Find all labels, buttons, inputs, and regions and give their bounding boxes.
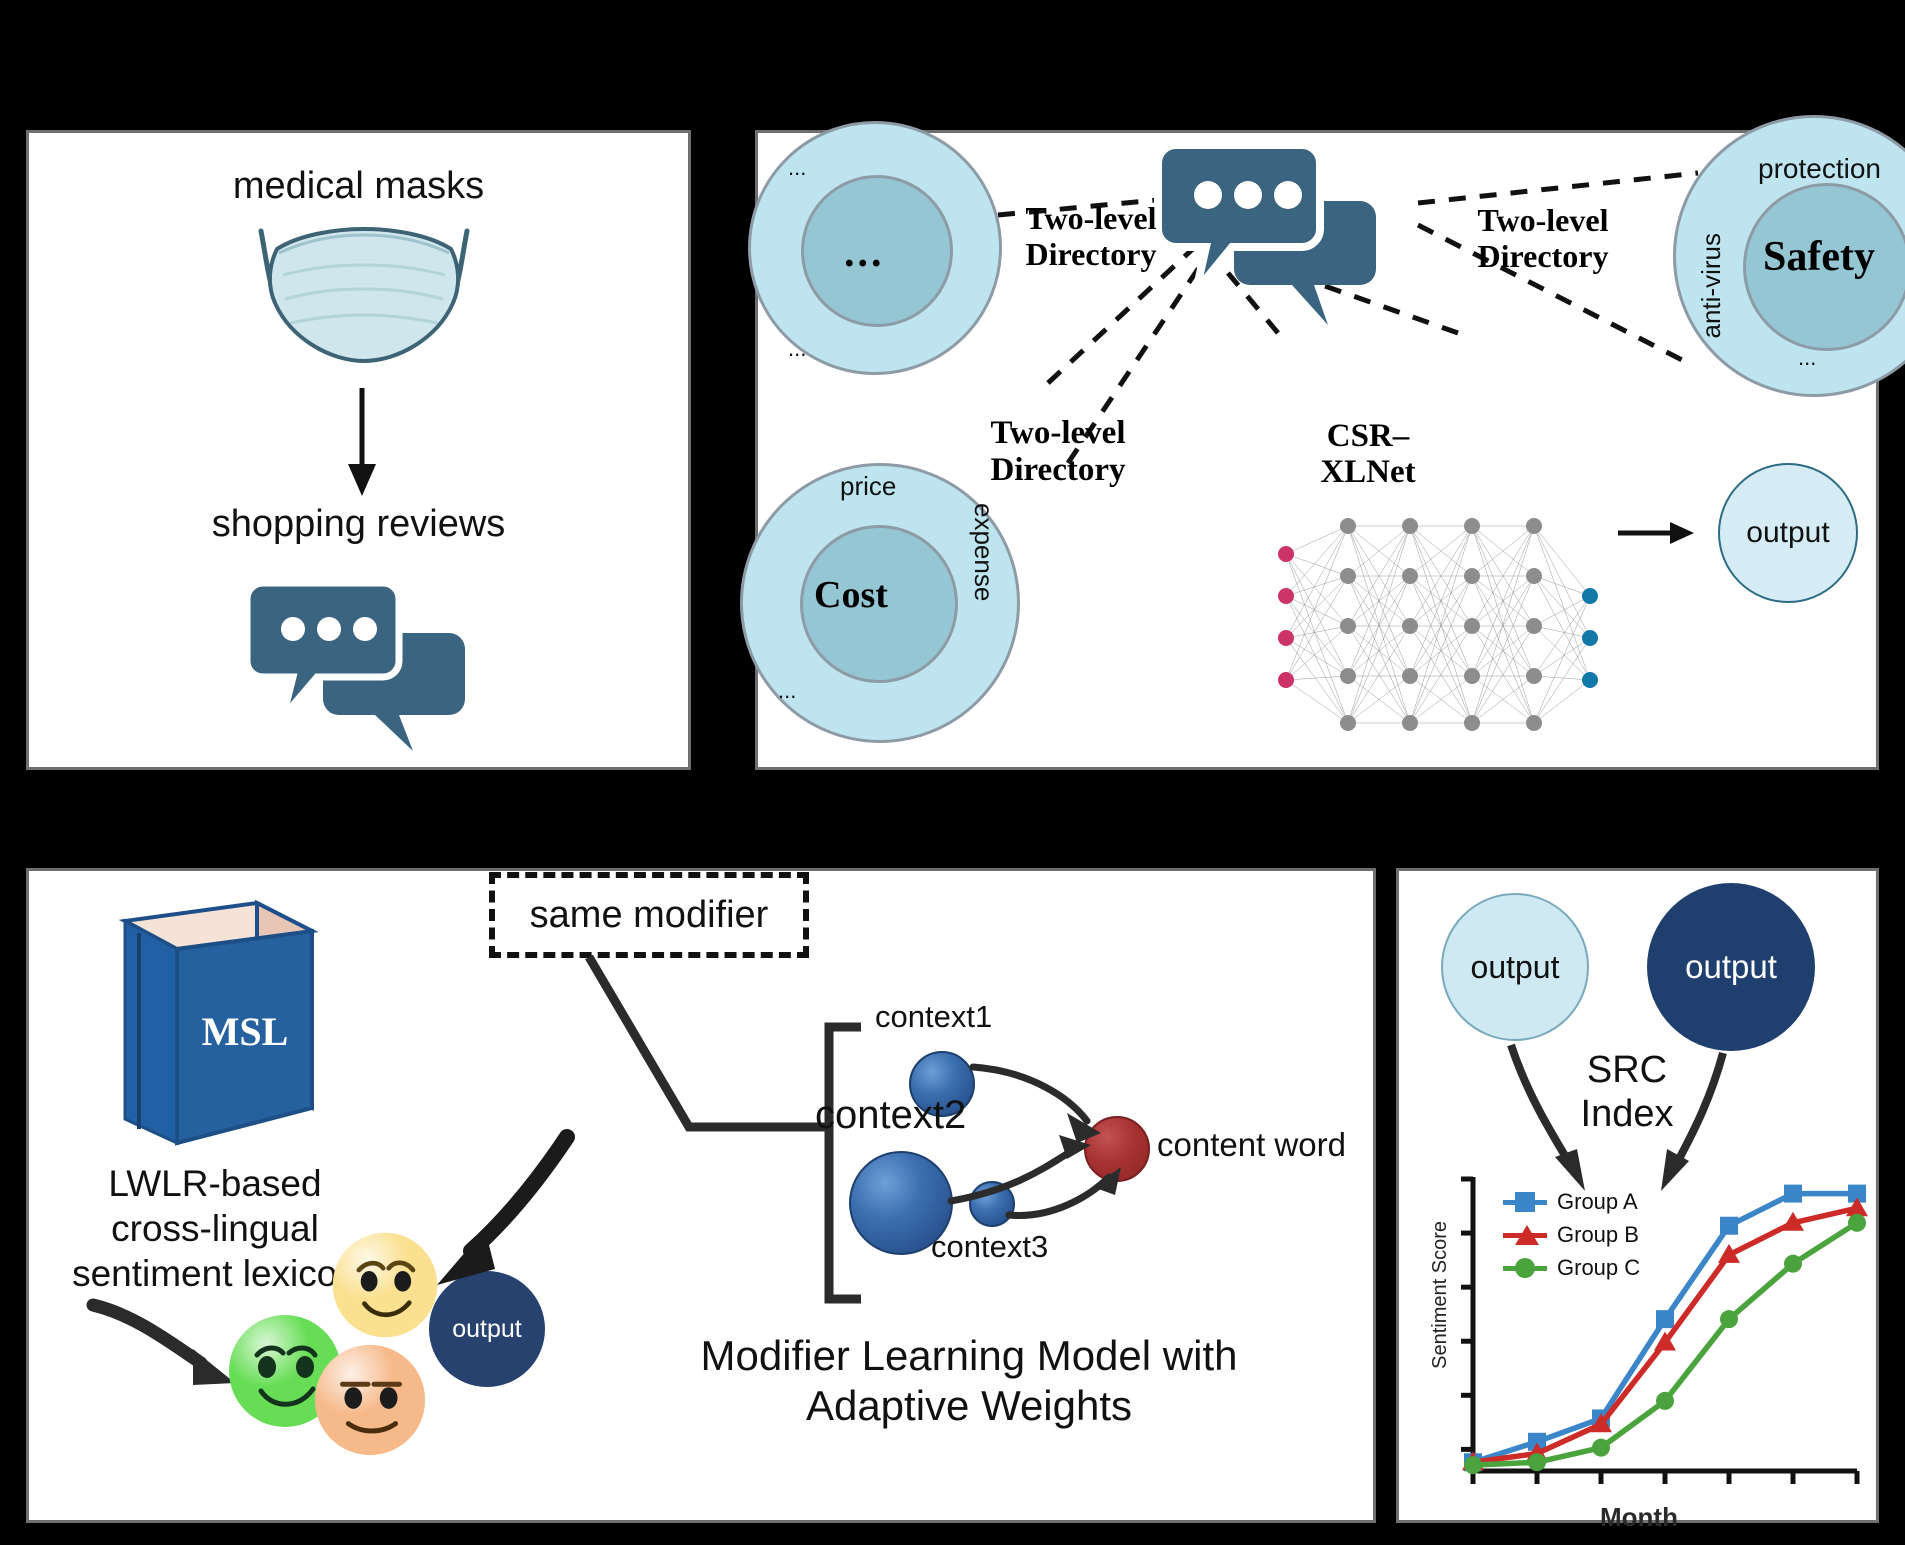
- modifier-learning-panel: MSL LWLR-based cross-lingual sentiment l…: [26, 868, 1376, 1523]
- legend-marker-square: [1515, 1192, 1535, 1212]
- legend-swatch: [1503, 1233, 1547, 1238]
- data-source-panel: medical masks shopping reviews: [26, 130, 691, 770]
- connector-label-1-line1: Two-level: [996, 201, 1186, 237]
- ellipsis-outer-bottom-label: ...: [788, 336, 806, 362]
- connector-label-3-line1: Two-level: [1448, 203, 1638, 239]
- legend-item-2: Group B: [1503, 1222, 1640, 1248]
- model-name-line2: XLNet: [1288, 454, 1448, 490]
- medical-masks-title: medical masks: [29, 165, 688, 208]
- safety-outer-left-label: anti-virus: [1696, 233, 1727, 338]
- hub-chat-bubbles-icon: [1160, 145, 1390, 330]
- connector-label-3-line2: Directory: [1448, 239, 1638, 275]
- model-caption-line1: Modifier Learning Model with: [589, 1331, 1349, 1381]
- network-output-arrow-icon: [1618, 518, 1698, 548]
- legend-label: Group A: [1557, 1189, 1638, 1215]
- connector-label-2-line1: Two-level: [958, 415, 1158, 452]
- safety-inner-label: Safety: [1763, 233, 1875, 281]
- legend-item-3: Group C: [1503, 1255, 1640, 1281]
- src-index-panel: output output SRC Index Sentiment Score …: [1396, 868, 1879, 1523]
- network-output-circle: output: [1718, 463, 1858, 603]
- sentiment-line-chart: [1427, 1171, 1877, 1521]
- chat-bubbles-icon: [247, 583, 487, 753]
- connector-label-1-line2: Directory: [996, 237, 1186, 273]
- chart-ylabel: Sentiment Score: [1429, 1221, 1452, 1369]
- neural-network-diagram: [1278, 518, 1598, 733]
- ellipsis-outer-top-label: ...: [788, 155, 806, 181]
- shopping-reviews-title: shopping reviews: [29, 503, 688, 546]
- two-level-directory-panel: ... ... ... price Cost expense ... prote…: [755, 130, 1879, 770]
- connector-label-2-line2: Directory: [958, 452, 1158, 489]
- network-output-label: output: [1746, 516, 1829, 550]
- ellipsis-inner-label: ...: [844, 229, 885, 277]
- legend-swatch: [1503, 1266, 1547, 1271]
- legend-marker-circle: [1515, 1258, 1535, 1278]
- legend-marker-triangle: [1515, 1225, 1539, 1245]
- cost-outer-right-label: expense: [968, 503, 999, 601]
- safety-outer-top-label: protection: [1758, 153, 1881, 185]
- cost-inner-label: Cost: [814, 573, 888, 617]
- model-caption-line2: Adaptive Weights: [589, 1381, 1349, 1431]
- legend-label: Group B: [1557, 1222, 1639, 1248]
- cost-outer-bottom-label: ...: [778, 678, 796, 704]
- safety-outer-bottom-label: ...: [1798, 345, 1816, 371]
- down-arrow-icon: [337, 388, 387, 498]
- chart-xlabel: Month: [1600, 1502, 1678, 1533]
- cost-outer-top-label: price: [840, 471, 896, 502]
- legend-swatch: [1503, 1200, 1547, 1205]
- legend-item-1: Group A: [1503, 1189, 1640, 1215]
- medical-mask-icon: [239, 223, 489, 373]
- model-name-line1: CSR–: [1288, 418, 1448, 454]
- chart-legend: Group AGroup BGroup C: [1503, 1189, 1640, 1288]
- legend-label: Group C: [1557, 1255, 1640, 1281]
